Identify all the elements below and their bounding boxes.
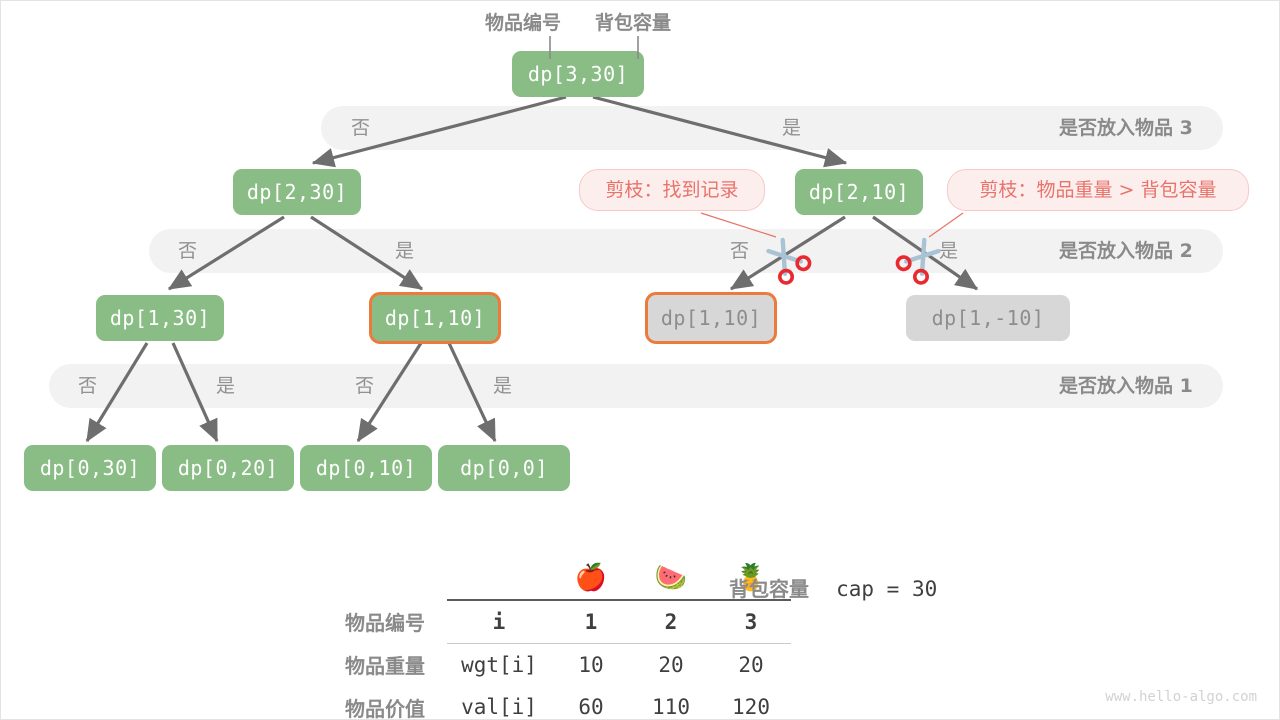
emoji-apple: 🍎 [551,557,631,600]
caption-item-index: 物品编号 [485,14,561,33]
node-dp-1-10-active[interactable]: dp[1,10] [369,292,501,344]
cell-val-3: 120 [711,686,791,720]
band3-label-yes: 是 [782,119,801,138]
cell-val-2: 110 [631,686,711,720]
row-key-wgt: wgt[i] [447,644,551,687]
emoji-row-spacer [293,557,447,600]
capacity-note-value: cap = 30 [836,577,937,601]
band1-label-yes-2: 是 [493,377,512,396]
callout-pruning-memo: 剪枝：找到记录 [579,169,765,211]
cell-wgt-2: 20 [631,644,711,687]
emoji-key-spacer [447,557,551,600]
band2-label-no: 否 [178,242,197,261]
cell-i-2: 2 [631,600,711,644]
table-emoji-row: 🍎 🍉 🍍 [293,557,791,600]
band1-label-yes: 是 [216,377,235,396]
cell-wgt-3: 20 [711,644,791,687]
band2-label-yes-2: 是 [939,242,958,261]
node-dp-2-30[interactable]: dp[2,30] [233,169,361,215]
node-dp-2-10[interactable]: dp[2,10] [795,169,923,215]
band1-title: 是否放入物品 1 [1059,377,1193,396]
row-head-item-value: 物品价值 [293,686,447,720]
cell-i-1: 1 [551,600,631,644]
node-dp-0-0[interactable]: dp[0,0] [438,445,570,491]
table-row-value: 物品价值 val[i] 60 110 120 [293,686,791,720]
band2-label-no-2: 否 [730,242,749,261]
node-dp-1-30[interactable]: dp[1,30] [96,295,224,341]
caption-bag-capacity: 背包容量 [595,14,671,33]
cell-wgt-1: 10 [551,644,631,687]
item-spec-table: 🍎 🍉 🍍 物品编号 i 1 2 3 物品重量 wgt[i] 10 20 20 … [293,557,791,720]
band1-label-no: 否 [78,377,97,396]
node-dp-1-10-pruned[interactable]: dp[1,10] [645,292,777,344]
cell-val-1: 60 [551,686,631,720]
diagram-canvas: 否 是 是否放入物品 3 否 是 否 是 是否放入物品 2 否 是 否 是 是否… [0,0,1280,720]
band1-label-no-2: 否 [355,377,374,396]
table-row-index: 物品编号 i 1 2 3 [293,600,791,644]
node-dp-0-10[interactable]: dp[0,10] [300,445,432,491]
node-dp-0-30[interactable]: dp[0,30] [24,445,156,491]
row-key-val: val[i] [447,686,551,720]
band3-title: 是否放入物品 3 [1059,119,1193,138]
band3-label-no: 否 [351,119,370,138]
capacity-note-label: 背包容量 [729,577,809,601]
capacity-note: 背包容量 cap = 30 [729,579,937,600]
node-dp-1-neg10-pruned[interactable]: dp[1,-10] [906,295,1070,341]
node-dp-0-20[interactable]: dp[0,20] [162,445,294,491]
table-row-weight: 物品重量 wgt[i] 10 20 20 [293,644,791,687]
node-dp-3-30[interactable]: dp[3,30] [512,51,644,97]
row-key-i: i [447,600,551,644]
watermark: www.hello-algo.com [1105,689,1257,705]
band2-label-yes: 是 [395,242,414,261]
cell-i-3: 3 [711,600,791,644]
callout-pruning-weight: 剪枝：物品重量 > 背包容量 [947,169,1249,211]
emoji-watermelon: 🍉 [631,557,711,600]
band2-title: 是否放入物品 2 [1059,242,1193,261]
row-head-item-index: 物品编号 [293,600,447,644]
row-head-item-weight: 物品重量 [293,644,447,687]
